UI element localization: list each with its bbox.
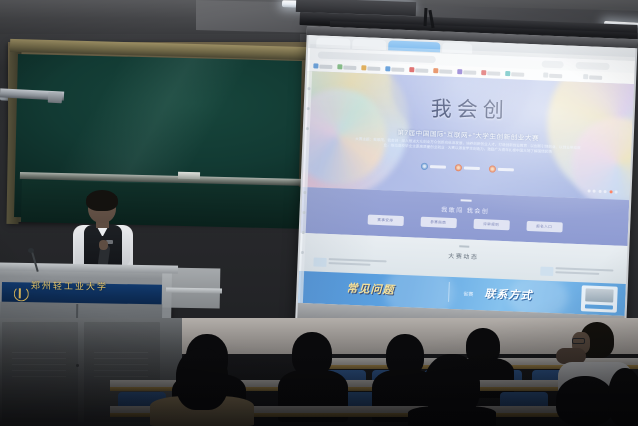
browser-tab[interactable] [442, 42, 472, 53]
speaker-presenter [66, 192, 140, 272]
quicklink-button[interactable]: 评审规则 [473, 219, 509, 230]
audience-head [556, 376, 614, 426]
cabinet-knob[interactable] [76, 364, 79, 367]
lectern-side-shelf [166, 288, 222, 294]
browser-action-pill[interactable] [575, 62, 609, 70]
chalk-tray-clip [178, 172, 200, 180]
browser-tab-active[interactable] [388, 40, 440, 52]
section-title: 我敢闯 我会创 [441, 205, 489, 216]
faq-label[interactable]: 常见问题 [346, 280, 395, 298]
quicklink-button[interactable]: 报名入口 [526, 221, 562, 232]
promo-widget-button[interactable] [585, 304, 613, 309]
carousel-dot-active[interactable] [609, 190, 612, 193]
projection-screen: 我会创 第7届中国国际“互联网+”大学生创新创业大赛 大赛主题：我敢闯、我会创 … [295, 26, 638, 341]
bookmark-item [409, 66, 428, 74]
bookmark-item [337, 63, 356, 71]
organizer-emblem [420, 163, 445, 171]
blackboard-slide-arm-end [48, 92, 63, 104]
organizer-emblem [488, 165, 513, 173]
carousel-dot[interactable] [598, 190, 601, 193]
audience-hair [176, 348, 228, 410]
bookmark-item [385, 65, 404, 73]
quicklink-button[interactable]: 赛事安排 [367, 215, 403, 226]
quicklink-button[interactable]: 参赛指南 [420, 217, 456, 228]
speaker-hand [99, 240, 108, 250]
news-thumbnail [313, 257, 326, 267]
hero-banner: 我会创 第7届中国国际“互联网+”大学生创新创业大赛 大赛主题：我敢闯、我会创 … [303, 71, 634, 200]
microphone-head-icon [28, 248, 34, 253]
section-divider [459, 245, 469, 247]
contact-prefix: 省赛 [463, 290, 473, 297]
organizer-emblem [454, 164, 479, 172]
news-card[interactable] [313, 257, 386, 269]
contact-label[interactable]: 联系方式 [484, 285, 533, 303]
hero-calligraphy-title: 我会创 [430, 93, 509, 125]
lecture-hall-photo: 我会创 第7届中国国际“互联网+”大学生创新创业大赛 大赛主题：我敢闯、我会创 … [0, 0, 638, 426]
bookmark-item [505, 70, 524, 78]
audience-body [408, 406, 496, 426]
carousel-dot[interactable] [604, 190, 607, 193]
promo-widget-image [585, 288, 613, 302]
carousel-dot[interactable] [587, 189, 590, 192]
bookmark-item [481, 69, 500, 77]
projected-webpage: 我会创 第7届中国国际“互联网+”大学生创新创业大赛 大赛主题：我敢闯、我会创 … [298, 35, 635, 316]
audience-head [608, 368, 638, 426]
news-thumbnail [540, 267, 553, 277]
eyeglasses-icon [572, 338, 585, 344]
university-logo-icon [14, 286, 27, 301]
quicklink-button-row: 赛事安排 参赛指南 评审规则 报名入口 [367, 215, 562, 233]
audience-area [0, 318, 638, 426]
cabinet-door [2, 322, 78, 422]
section-divider [460, 199, 471, 201]
bookmark-item [361, 64, 380, 72]
carousel-dot[interactable] [615, 190, 618, 193]
news-card[interactable] [540, 267, 613, 279]
bookmark-item [583, 73, 602, 81]
bookmark-item [313, 62, 332, 70]
browser-tab[interactable] [352, 39, 386, 50]
speaker-hair-fringe [87, 196, 117, 207]
bookmark-item [457, 68, 476, 76]
bookmark-item [433, 67, 452, 75]
hero-emblem-row [420, 163, 513, 174]
promo-widget-card[interactable] [581, 285, 618, 312]
browser-tab[interactable] [316, 37, 350, 48]
carousel-dot[interactable] [593, 190, 596, 193]
browser-action-pill[interactable] [542, 60, 564, 68]
lectern-plate-cn: 郑州轻工业大学 [31, 282, 108, 293]
bookmark-item [543, 72, 562, 80]
news-section-title: 大赛动态 [448, 251, 479, 261]
blackboard-lower-panel [21, 180, 304, 229]
